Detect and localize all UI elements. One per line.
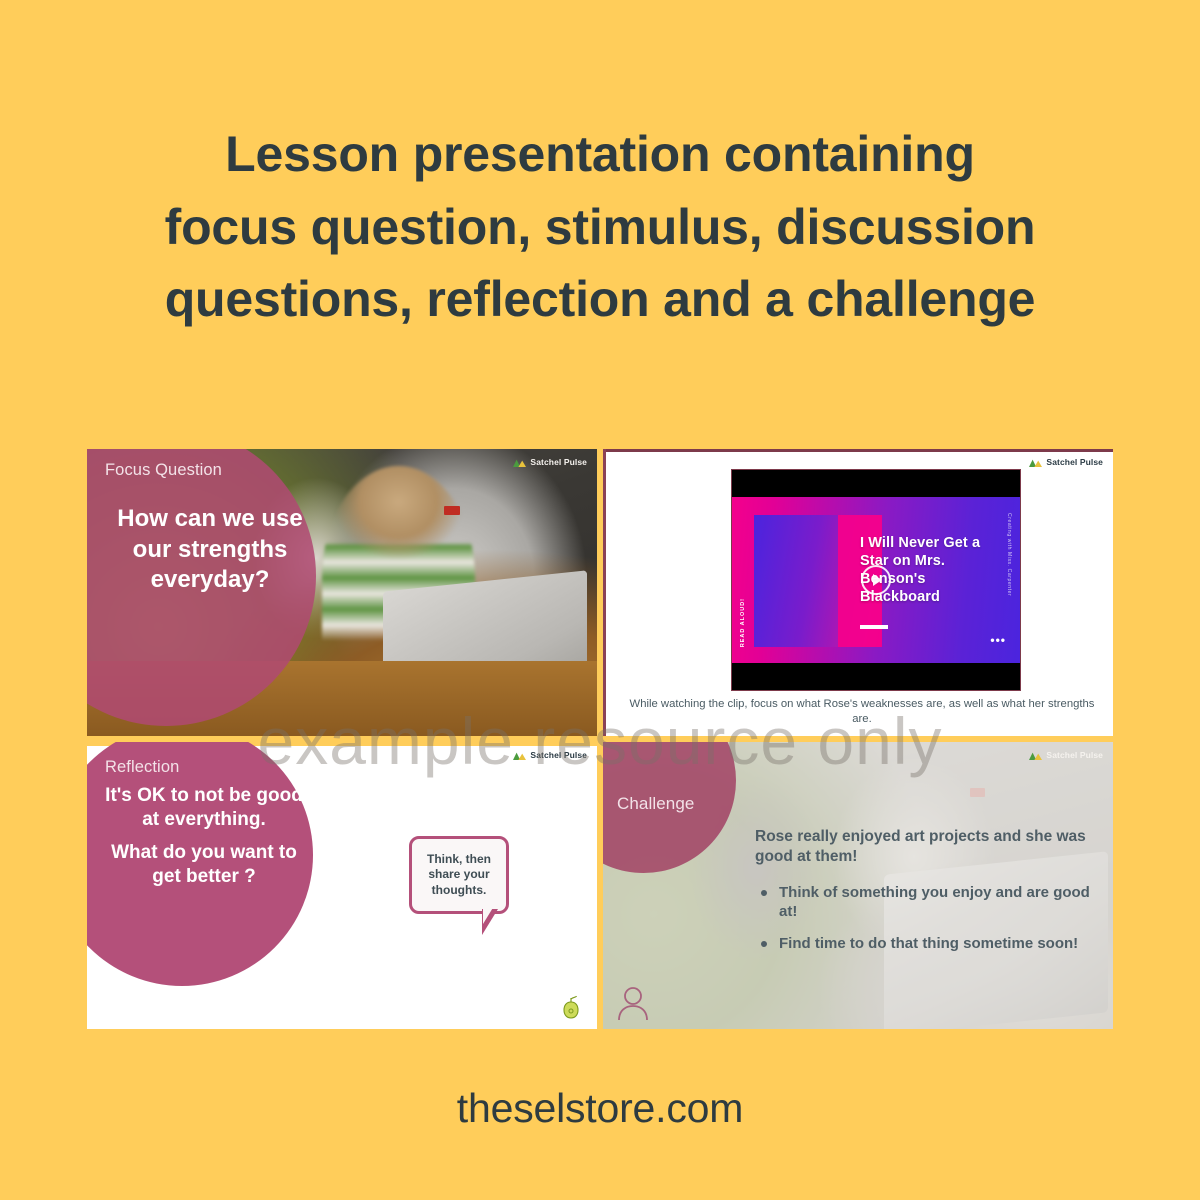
brand-name: Satchel Pulse — [1046, 457, 1103, 467]
page-title: Lesson presentation containing focus que… — [0, 118, 1200, 336]
satchel-pulse-logo: Satchel Pulse — [513, 457, 587, 467]
pear-icon — [561, 995, 581, 1019]
satchel-pulse-logo: Satchel Pulse — [513, 750, 587, 760]
letterbox-bottom — [732, 663, 1020, 690]
reflection-statement: It's OK to not be good at everything. — [105, 785, 303, 830]
letterbox-top — [732, 470, 1020, 497]
video-right-label: Creating with Miss. Carpenter — [1006, 513, 1012, 596]
slide-challenge[interactable]: Challenge Rose really enjoyed art projec… — [603, 742, 1113, 1029]
play-button-icon[interactable] — [861, 565, 891, 595]
slide-reflection[interactable]: Reflection It's OK to not be good at eve… — [87, 742, 597, 1029]
mountain-icon — [1029, 458, 1042, 467]
satchel-pulse-logo: Satchel Pulse — [1029, 457, 1103, 467]
slide-top-border — [603, 449, 1113, 452]
person-icon — [617, 985, 649, 1021]
slide-stimulus[interactable]: I Will Never Get a Star on Mrs. Benson's… — [603, 449, 1113, 736]
reflection-question: What do you want to get better ? — [111, 842, 297, 887]
page-title-line-2: focus question, stimulus, discussion — [110, 191, 1090, 264]
challenge-body: Rose really enjoyed art projects and she… — [755, 827, 1095, 966]
mountain-icon — [513, 751, 526, 760]
video-left-label: READ ALOUD! — [740, 598, 746, 647]
challenge-lead: Rose really enjoyed art projects and she… — [755, 827, 1095, 867]
challenge-bullet-list: Think of something you enjoy and are goo… — [755, 883, 1095, 954]
brand-name: Satchel Pulse — [1046, 750, 1103, 760]
slide-tag-focus-question: Focus Question — [105, 461, 222, 480]
mountain-icon — [1029, 751, 1042, 760]
reflection-spacer — [95, 832, 313, 841]
reflection-text: It's OK to not be good at everything. Wh… — [95, 784, 313, 889]
mountain-icon — [513, 458, 526, 467]
slide-grid: Focus Question How can we use our streng… — [87, 449, 1113, 1029]
focus-question-text: How can we use our strengths everyday? — [115, 504, 305, 596]
video-more-dots[interactable]: ••• — [990, 633, 1006, 647]
slide-tag-reflection: Reflection — [105, 758, 179, 777]
video-player[interactable]: I Will Never Get a Star on Mrs. Benson's… — [731, 469, 1021, 691]
brand-name: Satchel Pulse — [530, 457, 587, 467]
slide-tag-challenge: Challenge — [617, 794, 694, 814]
footer-url: theselstore.com — [0, 1085, 1200, 1132]
brand-name: Satchel Pulse — [530, 750, 587, 760]
slide-focus-question[interactable]: Focus Question How can we use our streng… — [87, 449, 597, 736]
page-title-line-3: questions, reflection and a challenge — [110, 263, 1090, 336]
satchel-pulse-logo: Satchel Pulse — [1029, 750, 1103, 760]
challenge-bullet-2: Find time to do that thing sometime soon… — [755, 934, 1095, 953]
stimulus-caption: While watching the clip, focus on what R… — [625, 697, 1099, 726]
challenge-bullet-1: Think of something you enjoy and are goo… — [755, 883, 1095, 921]
speech-bubble: Think, then share your thoughts. — [409, 836, 509, 914]
exit-sign — [444, 506, 460, 515]
speech-bubble-text: Think, then share your thoughts. — [412, 852, 506, 899]
slide-left-border — [603, 449, 606, 736]
page-title-line-1: Lesson presentation containing — [110, 118, 1090, 191]
speech-bubble-tail — [482, 909, 498, 935]
video-title-rule — [860, 625, 888, 629]
